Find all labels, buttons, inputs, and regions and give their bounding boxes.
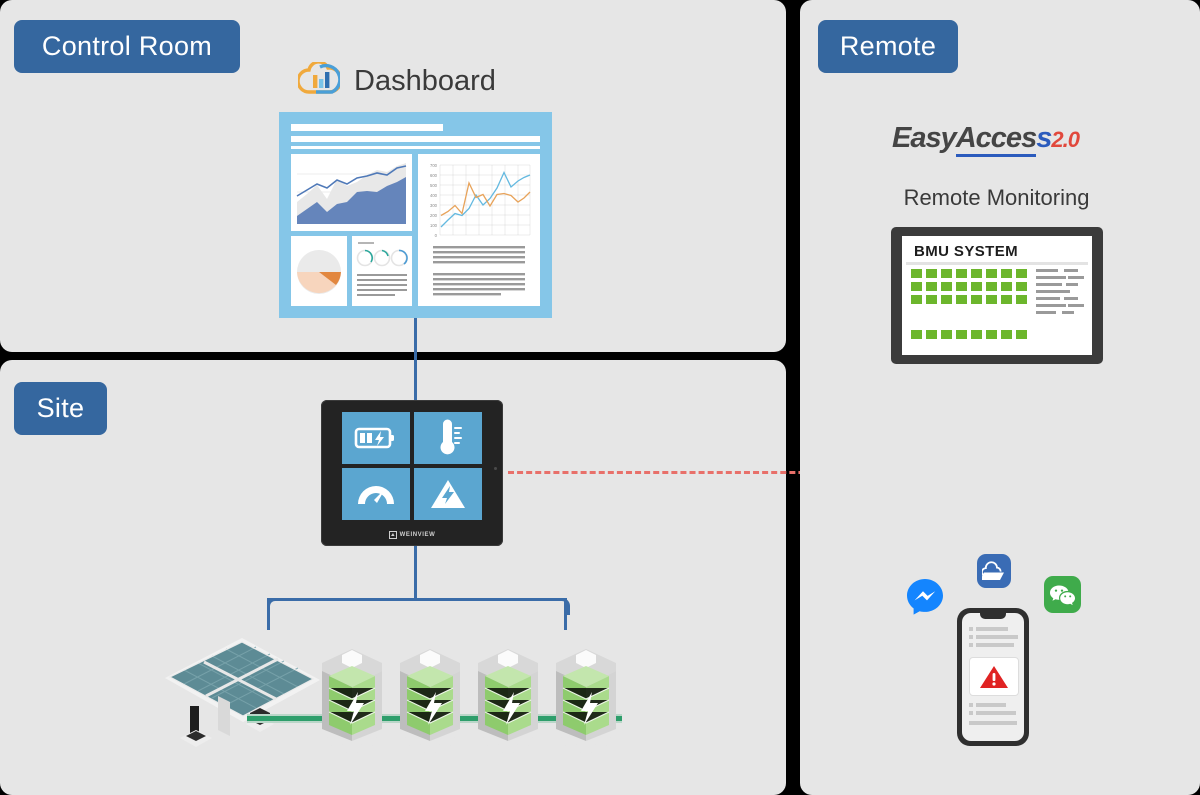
bmu-screen: BMU SYSTEM [902,236,1092,355]
panel-control-room: Control Room Dashboard [0,0,786,352]
hmi-panel[interactable]: WEINVIEW [321,400,503,546]
logo-part-version: 2.0 [1051,127,1079,152]
bmu-text-line [1036,304,1066,307]
bmu-cell [1016,295,1027,304]
svg-text:600: 600 [430,173,438,178]
phone-text-line [976,643,1014,647]
logo-part-acces: Acces [956,122,1036,157]
bmu-cell [926,330,937,339]
bmu-text-line [1036,311,1056,314]
battery-rack-group [318,645,628,755]
logo-part-s: s [1036,122,1051,154]
wire-corner-right [553,598,570,615]
bmu-cell [926,295,937,304]
gauge-icon[interactable] [342,468,410,520]
badge-site: Site [14,382,107,435]
wire-leg-right [564,600,567,630]
area-chart-card [291,154,412,231]
phone-text-row [969,643,1014,647]
bmu-cell [941,295,952,304]
phone-text-row [969,703,1006,707]
dashboard-mockup: 700600 500400 300200 1000 [279,112,552,318]
bmu-text-line [1062,311,1074,314]
svg-text:700: 700 [430,163,438,168]
bmu-cell [941,269,952,278]
cloud-bar-chart-icon [298,62,340,101]
bmu-cell-grid [911,269,1029,343]
bmu-cell [971,295,982,304]
dashboard-header-bar-2 [291,136,540,142]
bmu-cell [956,282,967,291]
bmu-cell [926,282,937,291]
bmu-cell [1016,330,1027,339]
dashboard-label: Dashboard [354,65,496,98]
bmu-cell [986,295,997,304]
svg-text:200: 200 [430,213,438,218]
bmu-text-line [1036,283,1062,286]
bmu-cell [971,282,982,291]
phone-text-row [969,635,1018,639]
bmu-cell [986,330,997,339]
line-chart-card: 700600 500400 300200 1000 [418,154,540,306]
dashboard-header-bar-1 [291,124,443,131]
badge-control-room: Control Room [14,20,240,73]
bmu-cell [971,330,982,339]
bmu-cell [941,330,952,339]
phone-screen [962,613,1024,741]
bmu-cell [1001,295,1012,304]
bmu-cell [986,282,997,291]
phone-text-line [976,711,1016,715]
bmu-text-line [1036,269,1058,272]
mobile-phone[interactable] [957,608,1029,746]
bmu-text-line [1036,297,1060,300]
phone-bullet [969,627,973,631]
bmu-cell [1001,282,1012,291]
dashboard-header-bar-3 [291,146,540,149]
bmu-cell [926,269,937,278]
bmu-text-line [1064,297,1078,300]
hmi-screen [342,412,482,520]
bmu-cell [911,282,922,291]
thermometer-icon[interactable] [414,412,482,464]
bmu-cell [956,269,967,278]
bmu-cell-row-bottom [911,330,1029,339]
phone-text-row [969,627,1008,631]
bmu-text-line [1036,290,1070,293]
bmu-text-line [1064,269,1078,272]
hmi-brand: WEINVIEW [321,531,503,539]
phone-notch [980,613,1006,619]
bmu-cell [911,330,922,339]
bmu-cell [956,295,967,304]
bmu-text-line [1066,283,1078,286]
phone-text-line [976,627,1008,631]
logo-part-easy: Easy [892,122,956,154]
badge-remote: Remote [818,20,958,73]
bmu-cell [986,269,997,278]
easyaccess-logo: EasyAccess2.0 [892,122,1079,155]
alert-card [969,657,1019,696]
bmu-text-line [1068,276,1084,279]
messenger-icon[interactable] [905,576,945,616]
hmi-indicator-dot [494,467,497,470]
phone-text-line [969,721,1017,725]
svg-text:0: 0 [435,233,438,238]
phone-text-row [969,711,1016,715]
bmu-cell [1016,269,1027,278]
bmu-text-line [1068,304,1084,307]
phone-bullet [969,635,973,639]
bmu-cell-row [911,282,1029,291]
phone-bullet [969,643,973,647]
mail-cloud-icon[interactable] [977,554,1011,588]
bmu-cell-row [911,269,1029,278]
remote-monitoring-label: Remote Monitoring [893,185,1100,211]
bmu-device: BMU SYSTEM [891,227,1103,364]
bmu-text-panel [1036,269,1084,318]
bmu-title: BMU SYSTEM [906,240,1088,265]
pie-chart-card [291,236,347,306]
bmu-cell [971,269,982,278]
hmi-brand-label: WEINVIEW [400,532,436,538]
phone-text-row [969,721,1017,725]
bmu-cell [911,269,922,278]
bmu-cell-row [911,295,1029,304]
svg-text:300: 300 [430,203,438,208]
phone-text-line [976,703,1006,707]
warning-triangle-icon [979,664,1009,690]
phone-bullet [969,711,973,715]
bmu-text-line [1036,276,1066,279]
bmu-cell [1016,282,1027,291]
wire-bus [267,598,567,601]
phone-text-line [976,635,1018,639]
line-chart-svg: 700600 500400 300200 1000 [418,154,540,306]
weinview-logo-icon [389,531,397,539]
svg-text:100: 100 [430,223,438,228]
gauges-card [352,236,412,306]
battery-charge-icon[interactable] [342,412,410,464]
phone-bullet [969,703,973,707]
bmu-cell [1001,330,1012,339]
bmu-cell [1001,269,1012,278]
bmu-cell [941,282,952,291]
wechat-icon[interactable] [1044,576,1081,613]
bmu-cell [956,330,967,339]
svg-text:400: 400 [430,193,438,198]
bmu-cell [911,295,922,304]
wire-hmi-to-bus [414,546,417,600]
solar-panel [160,620,325,755]
svg-text:500: 500 [430,183,438,188]
dashboard-title-group: Dashboard [298,62,496,101]
wire-dashboard-to-hmi [414,318,417,400]
high-voltage-warning-icon[interactable] [414,468,482,520]
